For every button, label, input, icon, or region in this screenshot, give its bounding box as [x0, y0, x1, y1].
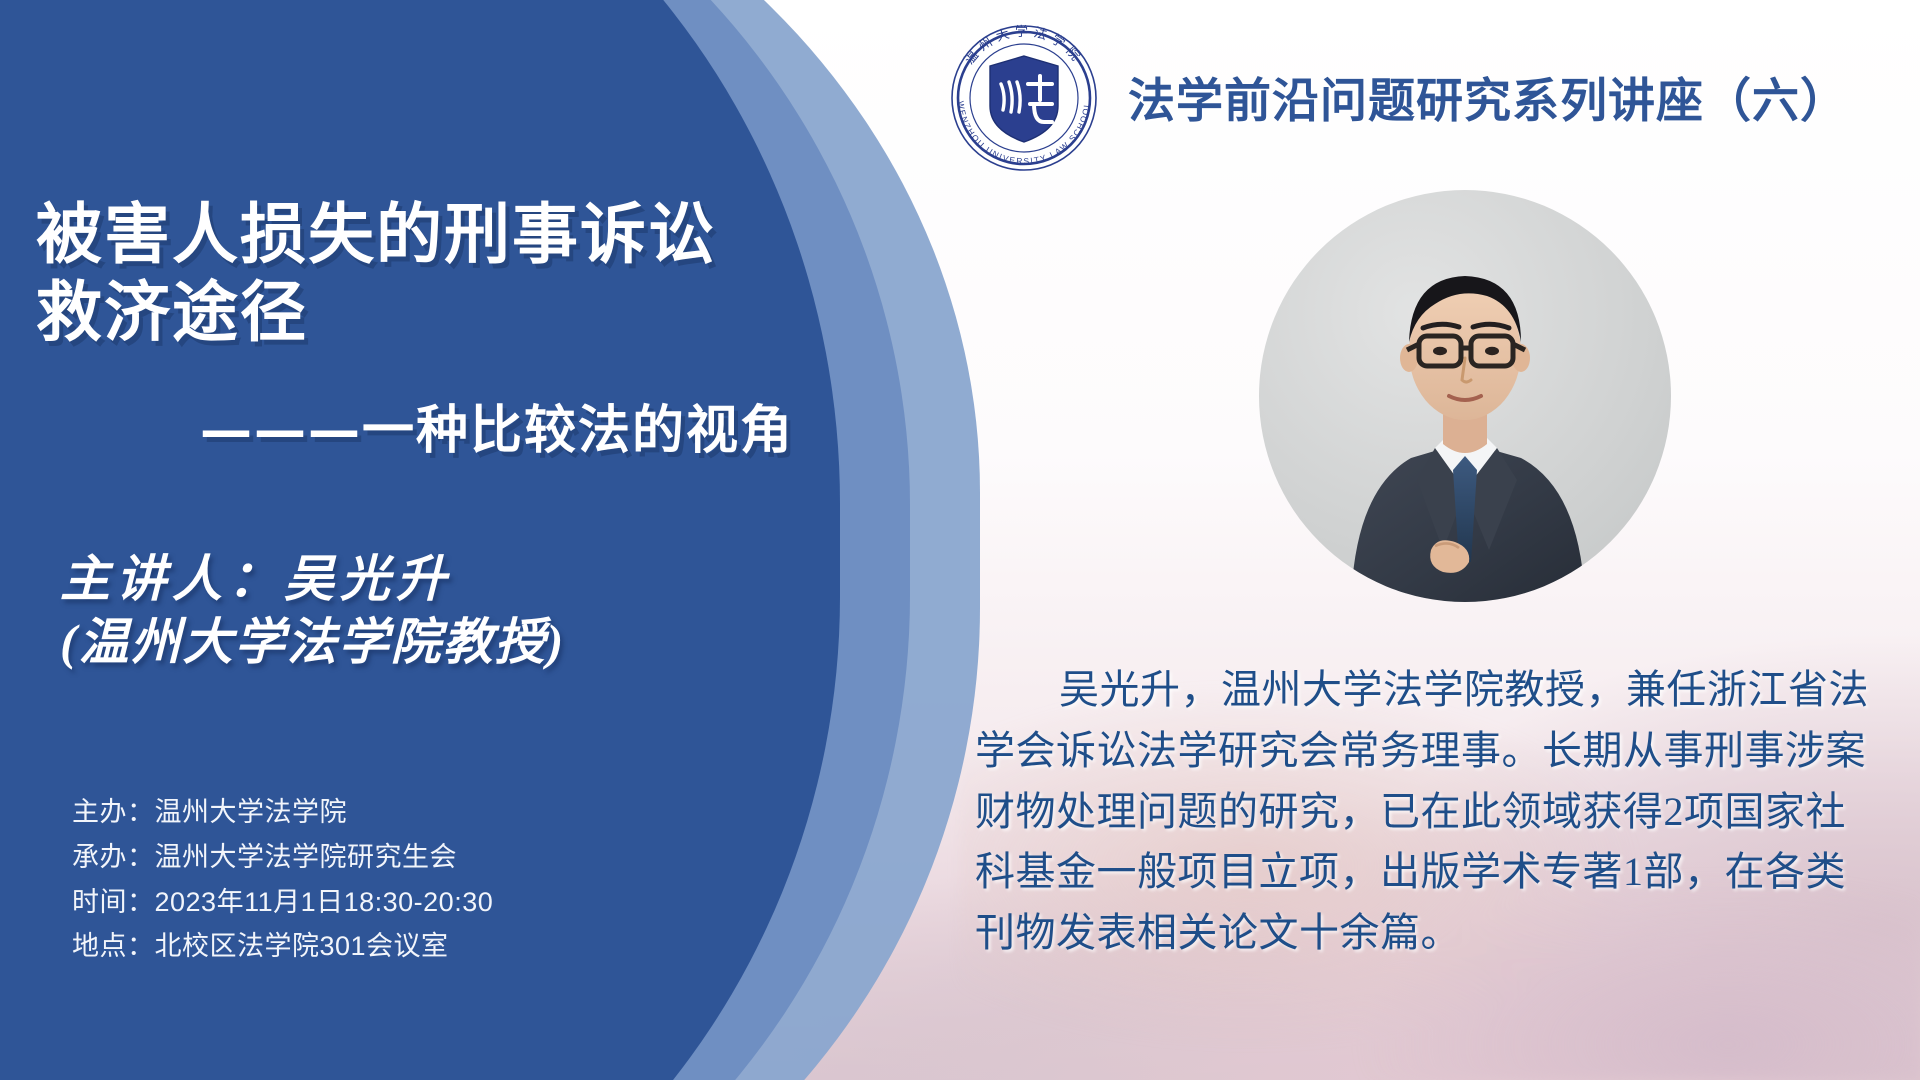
- speaker-block: 主讲人：吴光升 (温州大学法学院教授): [60, 548, 800, 674]
- speaker-affiliation: (温州大学法学院教授): [60, 611, 800, 674]
- speaker-portrait: [1259, 190, 1671, 602]
- detail-value-location: 北校区法学院301会议室: [155, 924, 449, 969]
- speaker-biography: 吴光升，温州大学法学院教授，兼任浙江省法 学会诉讼法学研究会常务理事。长期从事刑…: [975, 660, 1875, 964]
- bio-line-4: 科基金一般项目立项，出版学术专著1部，在各类: [975, 842, 1875, 903]
- detail-label-host: 主办：: [72, 790, 155, 835]
- detail-row-time: 时间：2023年11月1日18:30-20:30: [72, 880, 493, 925]
- main-title-line-1: 被害人损失的刑事诉讼: [36, 196, 716, 273]
- event-details: 主办：温州大学法学院 承办：温州大学法学院研究生会 时间：2023年11月1日1…: [72, 790, 493, 969]
- main-title-line-2: 救济途径: [36, 274, 308, 351]
- detail-value-organizer: 温州大学法学院研究生会: [155, 835, 458, 880]
- detail-row-location: 地点：北校区法学院301会议室: [72, 924, 493, 969]
- detail-label-time: 时间：: [72, 880, 155, 925]
- bio-line-3: 财物处理问题的研究，已在此领域获得2项国家社: [975, 782, 1875, 843]
- bio-line-1: 吴光升，温州大学法学院教授，兼任浙江省法: [975, 660, 1875, 721]
- speaker-name: 主讲人：吴光升: [60, 548, 800, 611]
- detail-value-time: 2023年11月1日18:30-20:30: [155, 880, 494, 925]
- page-subtitle: ———一种比较法的视角: [200, 388, 850, 463]
- detail-row-host: 主办：温州大学法学院: [72, 790, 493, 835]
- detail-value-host: 温州大学法学院: [155, 790, 348, 835]
- detail-label-organizer: 承办：: [72, 835, 155, 880]
- bio-line-2: 学会诉讼法学研究会常务理事。长期从事刑事涉案: [975, 721, 1875, 782]
- lecture-poster: 被害人损失的刑事诉讼 救济途径 ———一种比较法的视角 主讲人：吴光升 (温州大…: [0, 0, 1920, 1080]
- bio-line-5: 刊物发表相关论文十余篇。: [975, 903, 1875, 964]
- law-school-seal-icon: 温州大学法学院 WENZHOU UNIVERSITY LAW SCHOOL: [938, 12, 1110, 178]
- detail-label-location: 地点：: [72, 924, 155, 969]
- series-title: 法学前沿问题研究系列讲座（六）: [1128, 62, 1848, 131]
- detail-row-organizer: 承办：温州大学法学院研究生会: [72, 835, 493, 880]
- left-content-column: 被害人损失的刑事诉讼 救济途径 ———一种比较法的视角 主讲人：吴光升 (温州大…: [0, 0, 840, 1080]
- page-title: 被害人损失的刑事诉讼 救济途径: [36, 196, 826, 352]
